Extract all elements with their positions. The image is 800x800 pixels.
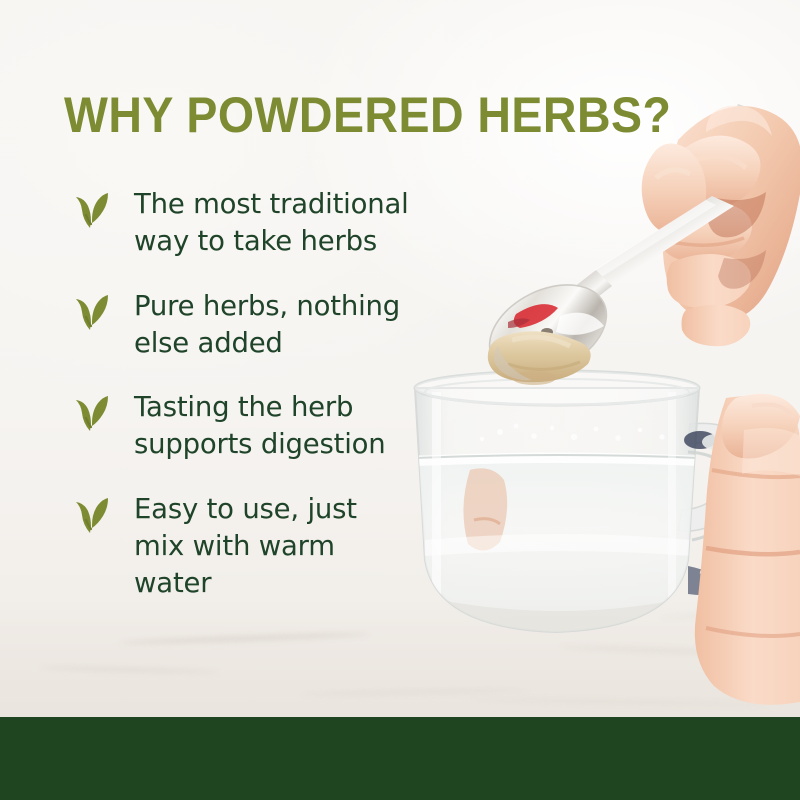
list-item: Easy to use, just mix with warm water — [70, 491, 450, 602]
list-item-label: The most traditional way to take herbs — [134, 186, 409, 260]
list-item: Pure herbs, nothing else added — [70, 288, 450, 362]
page-title: WHY POWDERED HERBS? — [64, 86, 671, 144]
list-item-label: Pure herbs, nothing else added — [134, 288, 400, 362]
leaf-sprout-icon — [70, 292, 112, 334]
leaf-sprout-icon — [70, 393, 112, 435]
list-item-label: Easy to use, just mix with warm water — [134, 491, 357, 602]
benefit-list: The most traditional way to take herbs P… — [70, 186, 450, 630]
list-item: Tasting the herb supports digestion — [70, 389, 450, 463]
footer-band — [0, 717, 800, 800]
leaf-sprout-icon — [70, 495, 112, 537]
promo-graphic: WHY POWDERED HERBS? The most traditional… — [0, 0, 800, 800]
list-item: The most traditional way to take herbs — [70, 186, 450, 260]
list-item-label: Tasting the herb supports digestion — [134, 389, 386, 463]
leaf-sprout-icon — [70, 190, 112, 232]
